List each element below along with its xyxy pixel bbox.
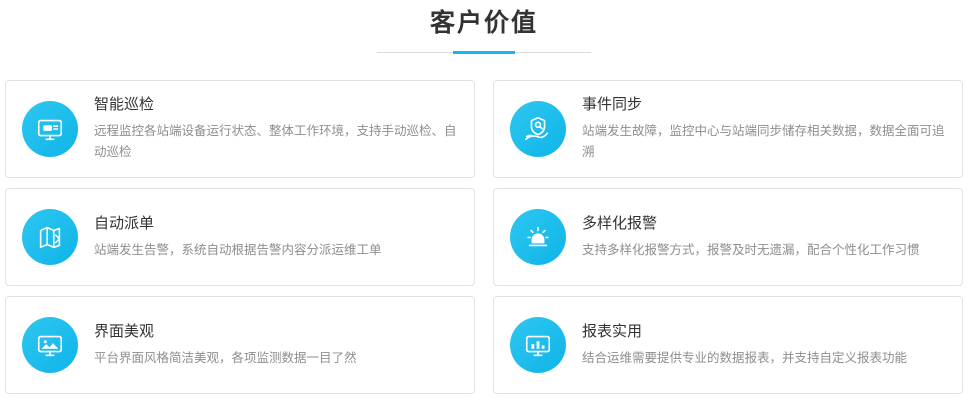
value-card[interactable]: 自动派单 站端发生告警，系统自动根据告警内容分派运维工单	[5, 188, 475, 286]
card-title: 界面美观	[94, 322, 460, 342]
card-title: 报表实用	[582, 322, 948, 342]
card-body: 自动派单 站端发生告警，系统自动根据告警内容分派运维工单	[94, 214, 460, 261]
ui-image-icon	[22, 317, 78, 373]
event-sync-hand-icon	[510, 101, 566, 157]
monitor-inspection-icon	[22, 101, 78, 157]
value-card[interactable]: 多样化报警 支持多样化报警方式，报警及时无遗漏，配合个性化工作习惯	[493, 188, 963, 286]
card-title: 智能巡检	[94, 95, 460, 115]
value-card[interactable]: 事件同步 站端发生故障，监控中心与站端同步储存相关数据，数据全面可追溯	[493, 80, 963, 178]
title-divider-accent	[453, 51, 515, 54]
card-body: 多样化报警 支持多样化报警方式，报警及时无遗漏，配合个性化工作习惯	[582, 214, 948, 261]
alarm-light-icon	[510, 209, 566, 265]
value-card[interactable]: 报表实用 结合运维需要提供专业的数据报表，并支持自定义报表功能	[493, 296, 963, 394]
value-card[interactable]: 界面美观 平台界面风格简洁美观，各项监测数据一目了然	[5, 296, 475, 394]
card-title: 事件同步	[582, 95, 948, 115]
card-body: 智能巡检 远程监控各站端设备运行状态、整体工作环境，支持手动巡检、自动巡检	[94, 95, 460, 163]
card-description: 站端发生故障，监控中心与站端同步储存相关数据，数据全面可追溯	[582, 121, 948, 163]
value-card[interactable]: 智能巡检 远程监控各站端设备运行状态、整体工作环境，支持手动巡检、自动巡检	[5, 80, 475, 178]
page-title: 客户价值	[0, 6, 968, 40]
card-description: 平台界面风格简洁美观，各项监测数据一目了然	[94, 348, 460, 369]
card-body: 报表实用 结合运维需要提供专业的数据报表，并支持自定义报表功能	[582, 322, 948, 369]
card-body: 界面美观 平台界面风格简洁美观，各项监测数据一目了然	[94, 322, 460, 369]
card-description: 结合运维需要提供专业的数据报表，并支持自定义报表功能	[582, 348, 948, 369]
card-description: 远程监控各站端设备运行状态、整体工作环境，支持手动巡检、自动巡检	[94, 121, 460, 163]
page-root: 客户价值 智能巡检 远程监控各站端设备运行状态、整体工作环境，支持手动巡检、自动…	[0, 0, 968, 401]
value-cards-grid: 智能巡检 远程监控各站端设备运行状态、整体工作环境，支持手动巡检、自动巡检 事件…	[5, 80, 963, 394]
card-description: 站端发生告警，系统自动根据告警内容分派运维工单	[94, 240, 460, 261]
card-title: 自动派单	[94, 214, 460, 234]
section-header: 客户价值	[0, 0, 968, 53]
card-title: 多样化报警	[582, 214, 948, 234]
report-chart-icon	[510, 317, 566, 373]
title-divider	[377, 52, 591, 53]
auto-dispatch-icon	[22, 209, 78, 265]
card-description: 支持多样化报警方式，报警及时无遗漏，配合个性化工作习惯	[582, 240, 948, 261]
card-body: 事件同步 站端发生故障，监控中心与站端同步储存相关数据，数据全面可追溯	[582, 95, 948, 163]
